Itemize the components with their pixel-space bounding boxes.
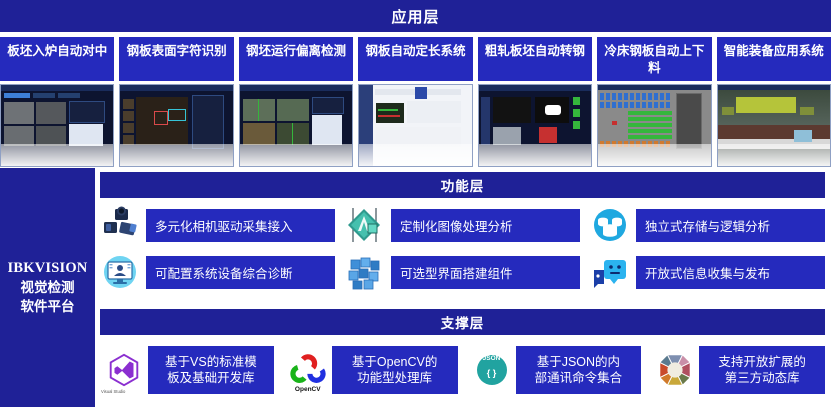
screenshot-smart-equipment (717, 84, 831, 167)
function-layer-title: 功能层 (441, 175, 485, 195)
support-item-label-line1: 支持开放扩展的 (718, 355, 806, 369)
support-layer-header: 支撑层 (100, 309, 825, 335)
thumbnail-reflection (240, 144, 352, 166)
support-layer-section: 支撑层 Visual Studio 基于VS的标准模 板及基础开发库 (100, 309, 825, 394)
database-storage-icon (590, 205, 630, 245)
application-card[interactable]: 板坯入炉自动对中 (0, 37, 114, 167)
thumbnail-reflection (718, 144, 830, 166)
application-card-title: 冷床钢板自动上下料 (597, 37, 711, 81)
monitor-diagnostics-icon (100, 252, 140, 292)
blue-cubes-components-icon (345, 252, 385, 292)
function-item[interactable]: 可配置系统设备综合诊断 (100, 252, 335, 292)
brand-name-cn-line1: 视觉检测 (21, 279, 75, 296)
support-item-label-line2: 第三方动态库 (725, 371, 800, 385)
function-layer-header: 功能层 (100, 172, 825, 198)
screenshot-auto-turn (478, 84, 592, 167)
application-card-title: 粗轧板坯自动转钢 (478, 37, 592, 81)
function-item-label: 独立式存储与逻辑分析 (636, 209, 825, 242)
support-item-label-line2: 板及基础开发库 (167, 371, 255, 385)
function-item-label: 多元化相机驱动采集接入 (146, 209, 335, 242)
support-item[interactable]: JSON { } 基于JSON的内 部通讯命令集合 (468, 346, 642, 394)
brand-name-en: IBKVISION (8, 260, 88, 277)
support-item-label-line1: 基于JSON的内 (537, 355, 620, 369)
json-icon: JSON { } (468, 346, 516, 394)
support-item-label-line1: 基于VS的标准模 (165, 355, 257, 369)
support-item-label-line2: 功能型处理库 (357, 371, 432, 385)
thumbnail-reflection (479, 144, 591, 166)
function-item-label: 可选型界面搭建组件 (391, 256, 580, 289)
industrial-cameras-icon (100, 205, 140, 245)
visual-studio-icon: Visual Studio (100, 346, 148, 394)
function-item[interactable]: 开放式信息收集与发布 (590, 252, 825, 292)
application-card[interactable]: 粗轧板坯自动转钢 (478, 37, 592, 167)
support-item[interactable]: Visual Studio 基于VS的标准模 板及基础开发库 (100, 346, 274, 394)
application-cards-row: 板坯入炉自动对中 钢板表面字符识别 (0, 37, 831, 167)
application-layer-title: 应用层 (391, 6, 439, 27)
octagon-extension-icon (651, 346, 699, 394)
screenshot-char-recognition (119, 84, 233, 167)
support-layer-title: 支撑层 (441, 312, 485, 332)
thumbnail-reflection (598, 144, 710, 166)
application-card[interactable]: 钢坯运行偏离检测 (239, 37, 353, 167)
application-card-title: 钢板表面字符识别 (119, 37, 233, 81)
support-item-label: 基于VS的标准模 板及基础开发库 (148, 346, 274, 394)
screenshot-cooling-bed (597, 84, 711, 167)
support-item-label: 基于OpenCV的 功能型处理库 (332, 346, 458, 394)
brand-sidebar: IBKVISION 视觉检测 软件平台 (0, 168, 95, 407)
application-card-title: 钢坯运行偏离检测 (239, 37, 353, 81)
function-item-label: 可配置系统设备综合诊断 (146, 256, 335, 289)
image-processing-diamond-icon (345, 205, 385, 245)
diagram-root: 应用层 板坯入炉自动对中 (0, 0, 831, 407)
screenshot-slab-alignment (0, 84, 114, 167)
support-item[interactable]: OpenCV 基于OpenCV的 功能型处理库 (284, 346, 458, 394)
support-item-label: 基于JSON的内 部通讯命令集合 (516, 346, 642, 394)
support-item-label-line1: 基于OpenCV的 (352, 355, 437, 369)
thumbnail-reflection (359, 144, 471, 166)
function-item[interactable]: 定制化图像处理分析 (345, 205, 580, 245)
function-item[interactable]: 多元化相机驱动采集接入 (100, 205, 335, 245)
thumbnail-reflection (1, 144, 113, 166)
screenshot-deviation-detect (239, 84, 353, 167)
support-item-label: 支持开放扩展的 第三方动态库 (699, 346, 825, 394)
application-card-title: 智能装备应用系统 (717, 37, 831, 81)
brand-name-cn-line2: 软件平台 (21, 298, 75, 315)
application-card[interactable]: 冷床钢板自动上下料 (597, 37, 711, 167)
opencv-caption: OpenCV (284, 386, 332, 393)
application-card-title: 板坯入炉自动对中 (0, 37, 114, 81)
application-card[interactable]: 智能装备应用系统 (717, 37, 831, 167)
application-card[interactable]: 钢板自动定长系统 (358, 37, 472, 167)
application-card-title: 钢板自动定长系统 (358, 37, 472, 81)
visual-studio-caption: Visual Studio (101, 389, 125, 394)
support-item-label-line2: 部通讯命令集合 (535, 371, 623, 385)
screenshot-length-system (358, 84, 472, 167)
thumbnail-reflection (120, 144, 232, 166)
json-icon-bottom-text: { } (468, 368, 516, 378)
function-item-label: 定制化图像处理分析 (391, 209, 580, 242)
function-item[interactable]: 独立式存储与逻辑分析 (590, 205, 825, 245)
json-icon-top-text: JSON (468, 355, 516, 362)
application-card[interactable]: 钢板表面字符识别 (119, 37, 233, 167)
function-item-label: 开放式信息收集与发布 (636, 256, 825, 289)
publish-screen-icon (590, 252, 630, 292)
function-item[interactable]: 可选型界面搭建组件 (345, 252, 580, 292)
support-item[interactable]: 支持开放扩展的 第三方动态库 (651, 346, 825, 394)
function-items-grid: 多元化相机驱动采集接入 定制化图像处理分析 (100, 205, 825, 292)
opencv-icon: OpenCV (284, 346, 332, 394)
application-layer-header: 应用层 (0, 0, 831, 32)
function-layer-section: 功能层 多元化相机驱动采集接入 (100, 172, 825, 292)
support-items-grid: Visual Studio 基于VS的标准模 板及基础开发库 (100, 346, 825, 394)
